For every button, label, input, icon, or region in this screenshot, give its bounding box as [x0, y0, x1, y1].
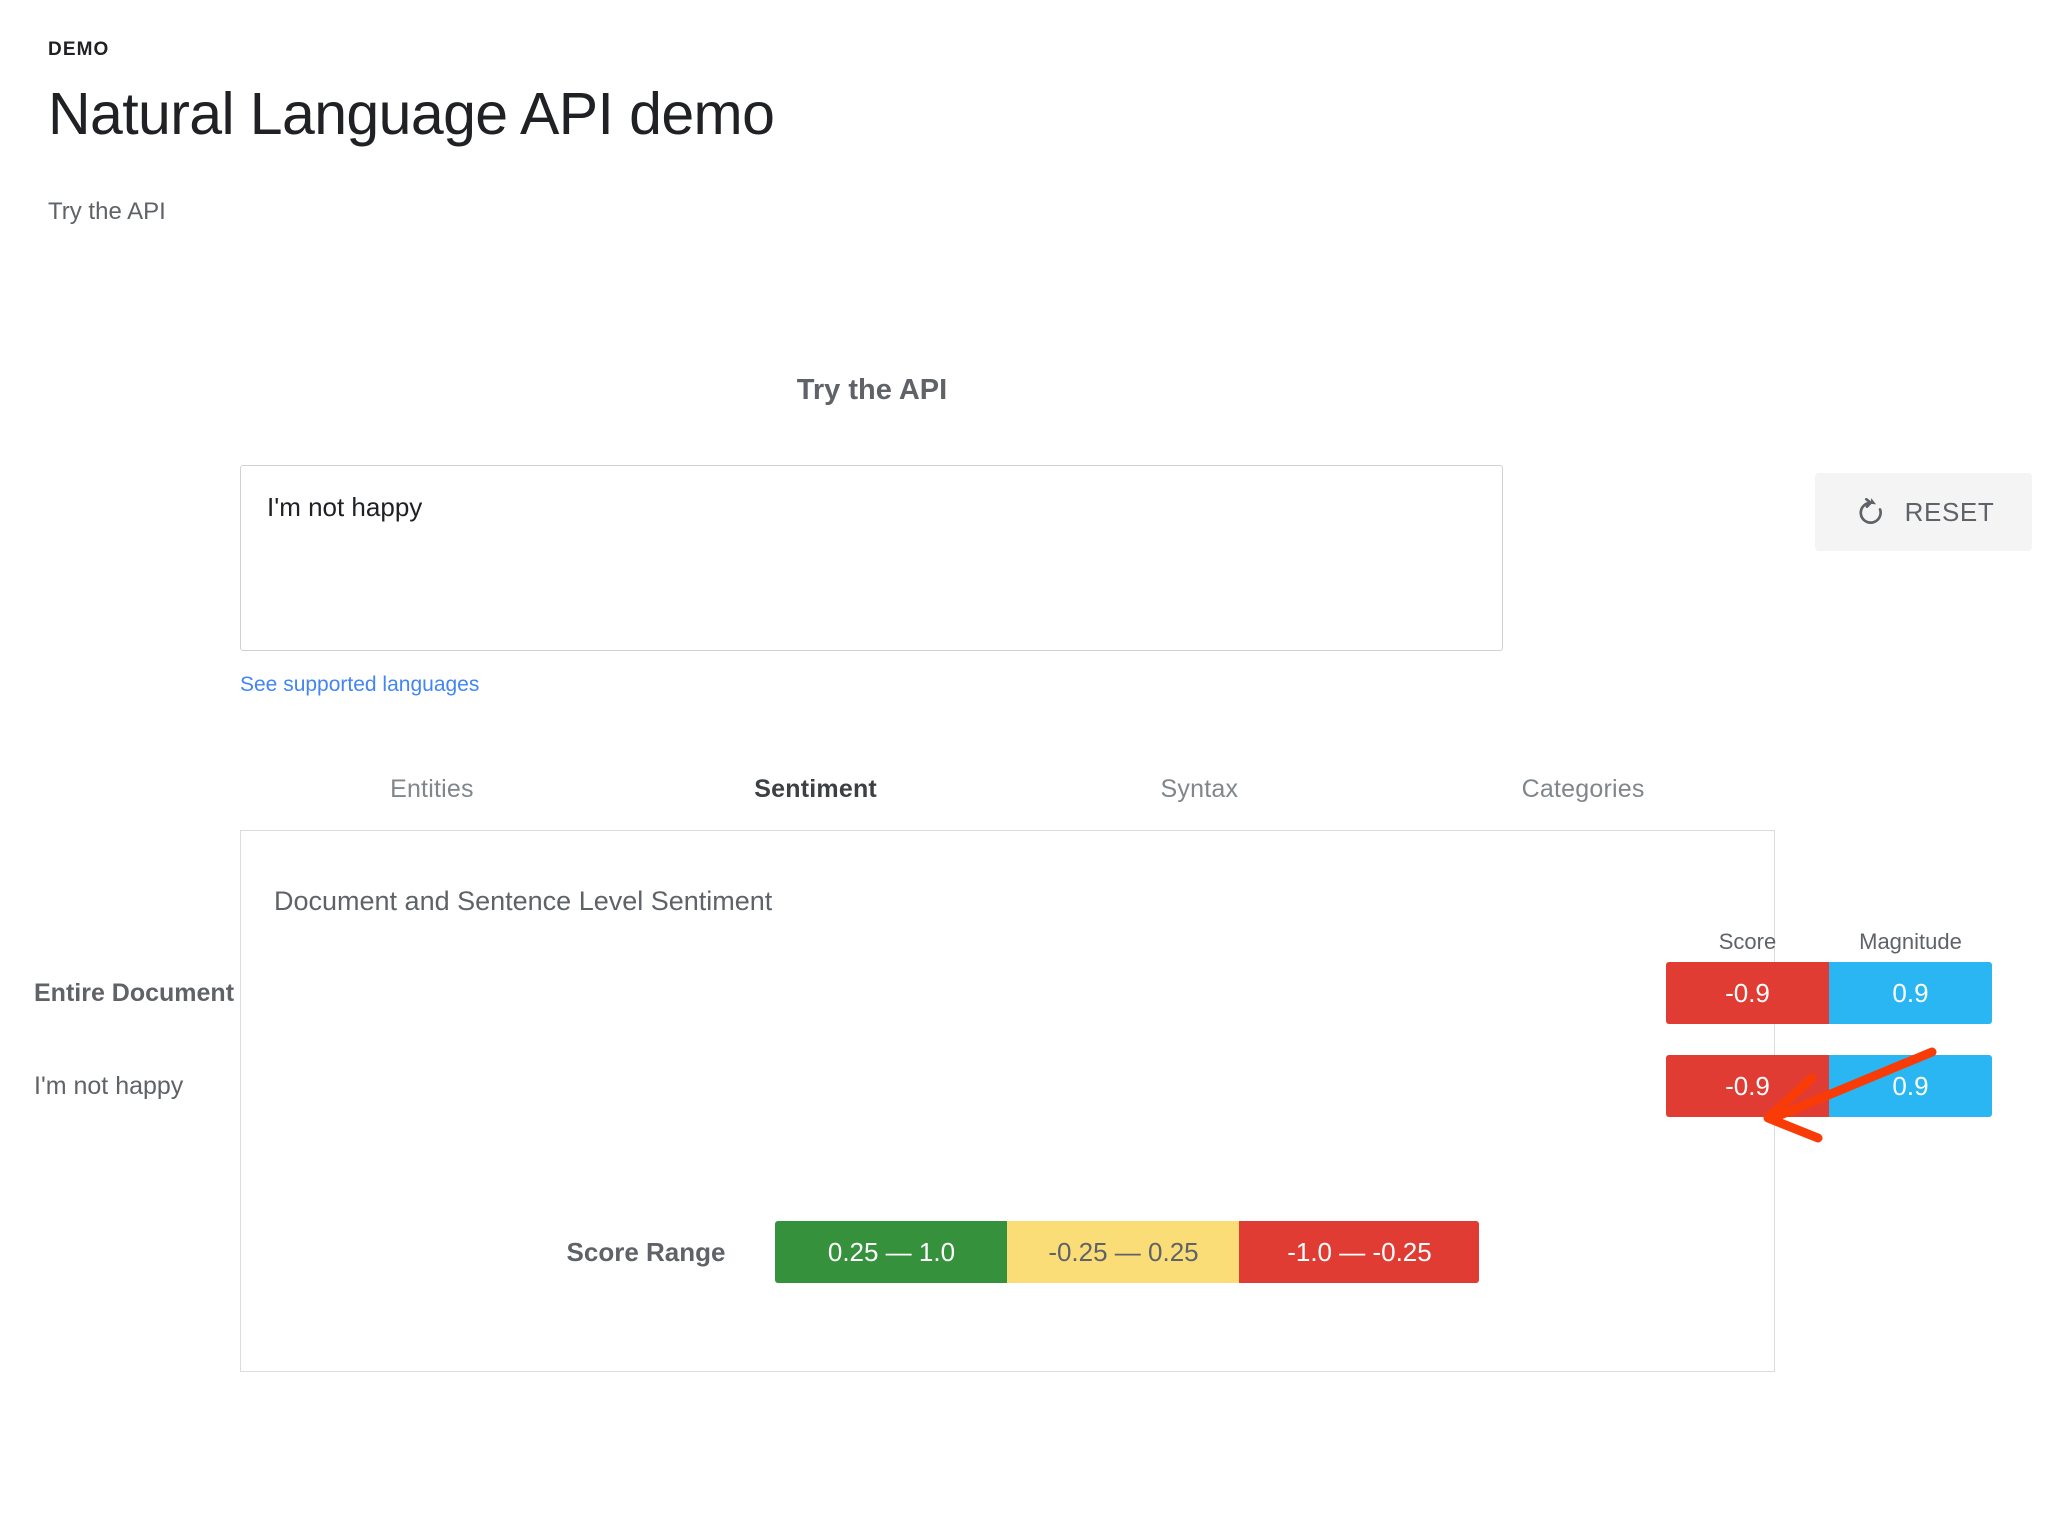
score-range-label: Score Range	[567, 1239, 726, 1265]
score-range-segment-neutral: -0.25 — 0.25	[1007, 1221, 1239, 1283]
row-label-sentence: I'm not happy	[34, 1074, 1666, 1099]
demo-module: Try the API RESET See supported language…	[0, 0, 2046, 1518]
score-range-segment-positive: 0.25 — 1.0	[775, 1221, 1007, 1283]
reset-button-label: RESET	[1905, 499, 1995, 525]
sentence-magnitude-cell: 0.9	[1829, 1055, 1992, 1117]
score-range-segment-negative: -1.0 — -0.25	[1239, 1221, 1479, 1283]
document-score-cell: -0.9	[1666, 962, 1829, 1024]
text-input[interactable]	[240, 465, 1503, 651]
score-range-legend: Score Range 0.25 — 1.0 -0.25 — 0.25 -1.0…	[34, 1221, 2012, 1283]
rotate-left-icon	[1853, 495, 1887, 529]
panel-title: Document and Sentence Level Sentiment	[274, 888, 772, 915]
reset-button[interactable]: RESET	[1815, 473, 2032, 551]
row-label-entire-document: Entire Document	[34, 981, 1666, 1006]
sentence-score-cell: -0.9	[1666, 1055, 1829, 1117]
result-tabs: Entities Sentiment Syntax Categories	[240, 756, 1775, 835]
score-range-bar: 0.25 — 1.0 -0.25 — 0.25 -1.0 — -0.25	[775, 1221, 1479, 1283]
value-cells: -0.9 0.9	[1666, 1055, 1992, 1117]
tab-syntax[interactable]: Syntax	[1008, 756, 1392, 835]
see-supported-languages-link[interactable]: See supported languages	[240, 674, 479, 695]
try-the-api-heading: Try the API	[240, 376, 1504, 405]
table-row: Entire Document -0.9 0.9	[34, 962, 1992, 1024]
input-row: RESET	[240, 465, 1814, 655]
document-magnitude-cell: 0.9	[1829, 962, 1992, 1024]
tab-entities[interactable]: Entities	[240, 756, 624, 835]
value-cells: -0.9 0.9	[1666, 962, 1992, 1024]
tab-categories[interactable]: Categories	[1391, 756, 1775, 835]
table-row: I'm not happy -0.9 0.9	[34, 1055, 1992, 1117]
column-headers: Score Magnitude	[1666, 931, 1992, 953]
column-header-magnitude: Magnitude	[1829, 931, 1992, 953]
tab-sentiment[interactable]: Sentiment	[624, 756, 1008, 835]
column-header-score: Score	[1666, 931, 1829, 953]
